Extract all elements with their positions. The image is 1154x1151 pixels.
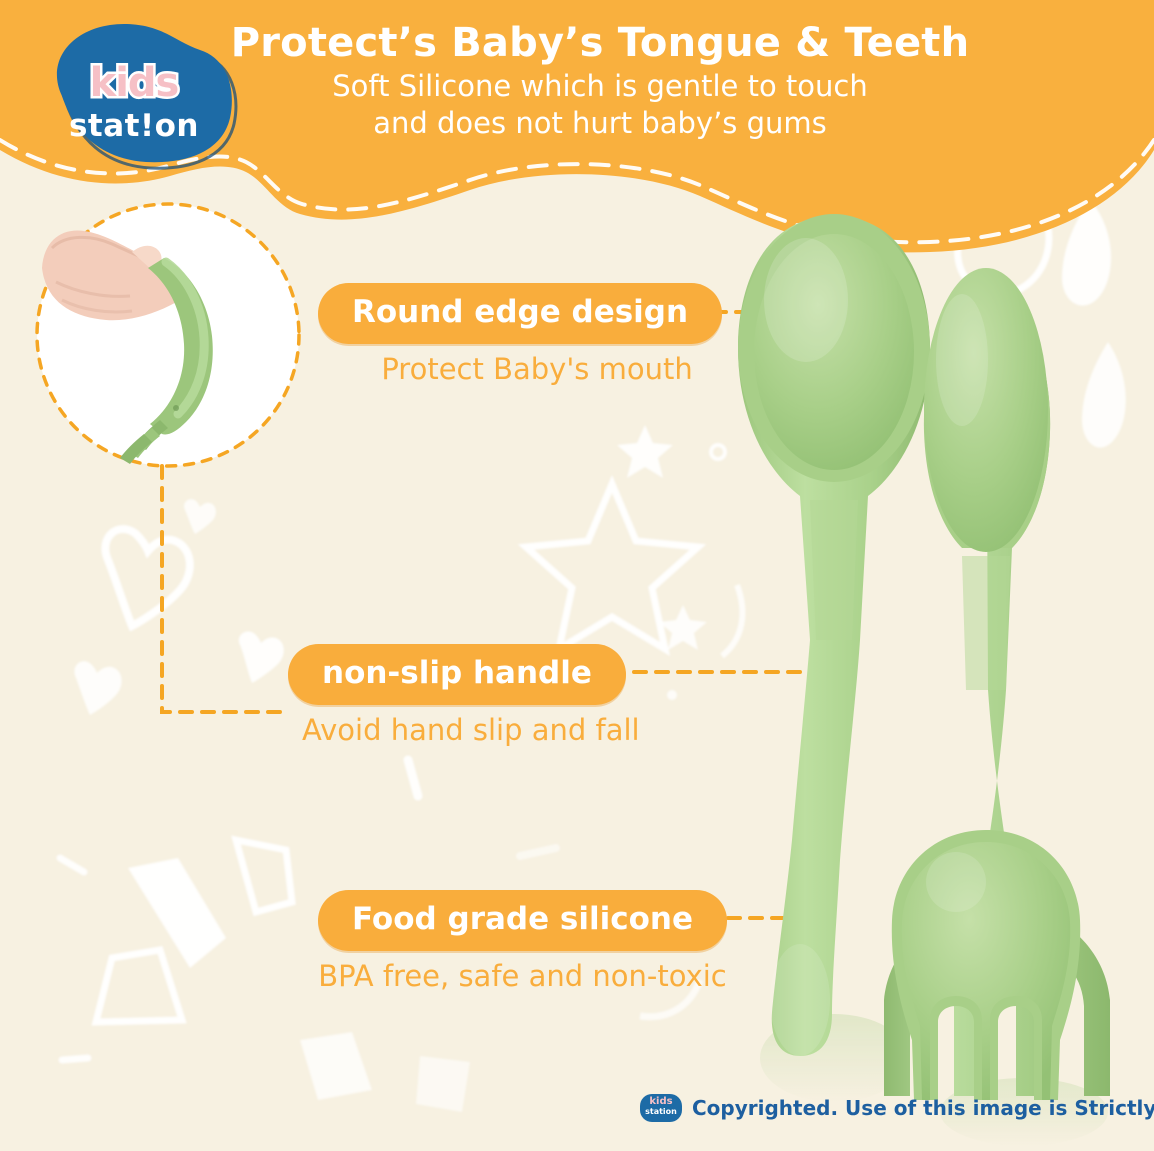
feature-round-edge-design: Round edge design Protect Baby's mouth	[318, 283, 722, 387]
feature-label-non-slip-handle[interactable]: non-slip handle	[288, 644, 626, 705]
footer-badge-station-text: station	[640, 1107, 682, 1116]
footer-logo-badge: kids station	[640, 1094, 682, 1122]
page-title: Protect’s Baby’s Tongue & Teeth	[200, 18, 1000, 68]
feature-food-grade-silicone: Food grade silicone BPA free, safe and n…	[318, 890, 727, 994]
copyright-text: Copyrighted. Use of this image is Strict…	[692, 1096, 1154, 1120]
header-text-block: Protect’s Baby’s Tongue & Teeth Soft Sil…	[200, 18, 1000, 142]
feature-description-food-grade-silicone: BPA free, safe and non-toxic	[318, 958, 727, 994]
logo-station-text: stat!on	[44, 108, 224, 144]
feature-description-round-edge-design: Protect Baby's mouth	[318, 351, 722, 387]
header-subtitle-line1: Soft Silicone which is gentle to touch	[200, 68, 1000, 105]
infographic-canvas: kids stat!on Protect’s Baby’s Tongue & T…	[0, 0, 1154, 1151]
footer-badge-kids-text: kids	[640, 1096, 682, 1107]
feature-non-slip-handle: non-slip handle Avoid hand slip and fall	[288, 644, 640, 748]
header-subtitle-line2: and does not hurt baby’s gums	[200, 105, 1000, 142]
brand-logo[interactable]: kids stat!on	[44, 38, 224, 158]
photo-inset-circle	[37, 204, 299, 466]
feature-description-non-slip-handle: Avoid hand slip and fall	[288, 712, 640, 748]
feature-label-food-grade-silicone[interactable]: Food grade silicone	[318, 890, 727, 951]
logo-kids-text: kids	[44, 60, 224, 106]
feature-label-round-edge-design[interactable]: Round edge design	[318, 283, 722, 344]
copyright-footer: kids station Copyrighted. Use of this im…	[640, 1094, 1154, 1122]
